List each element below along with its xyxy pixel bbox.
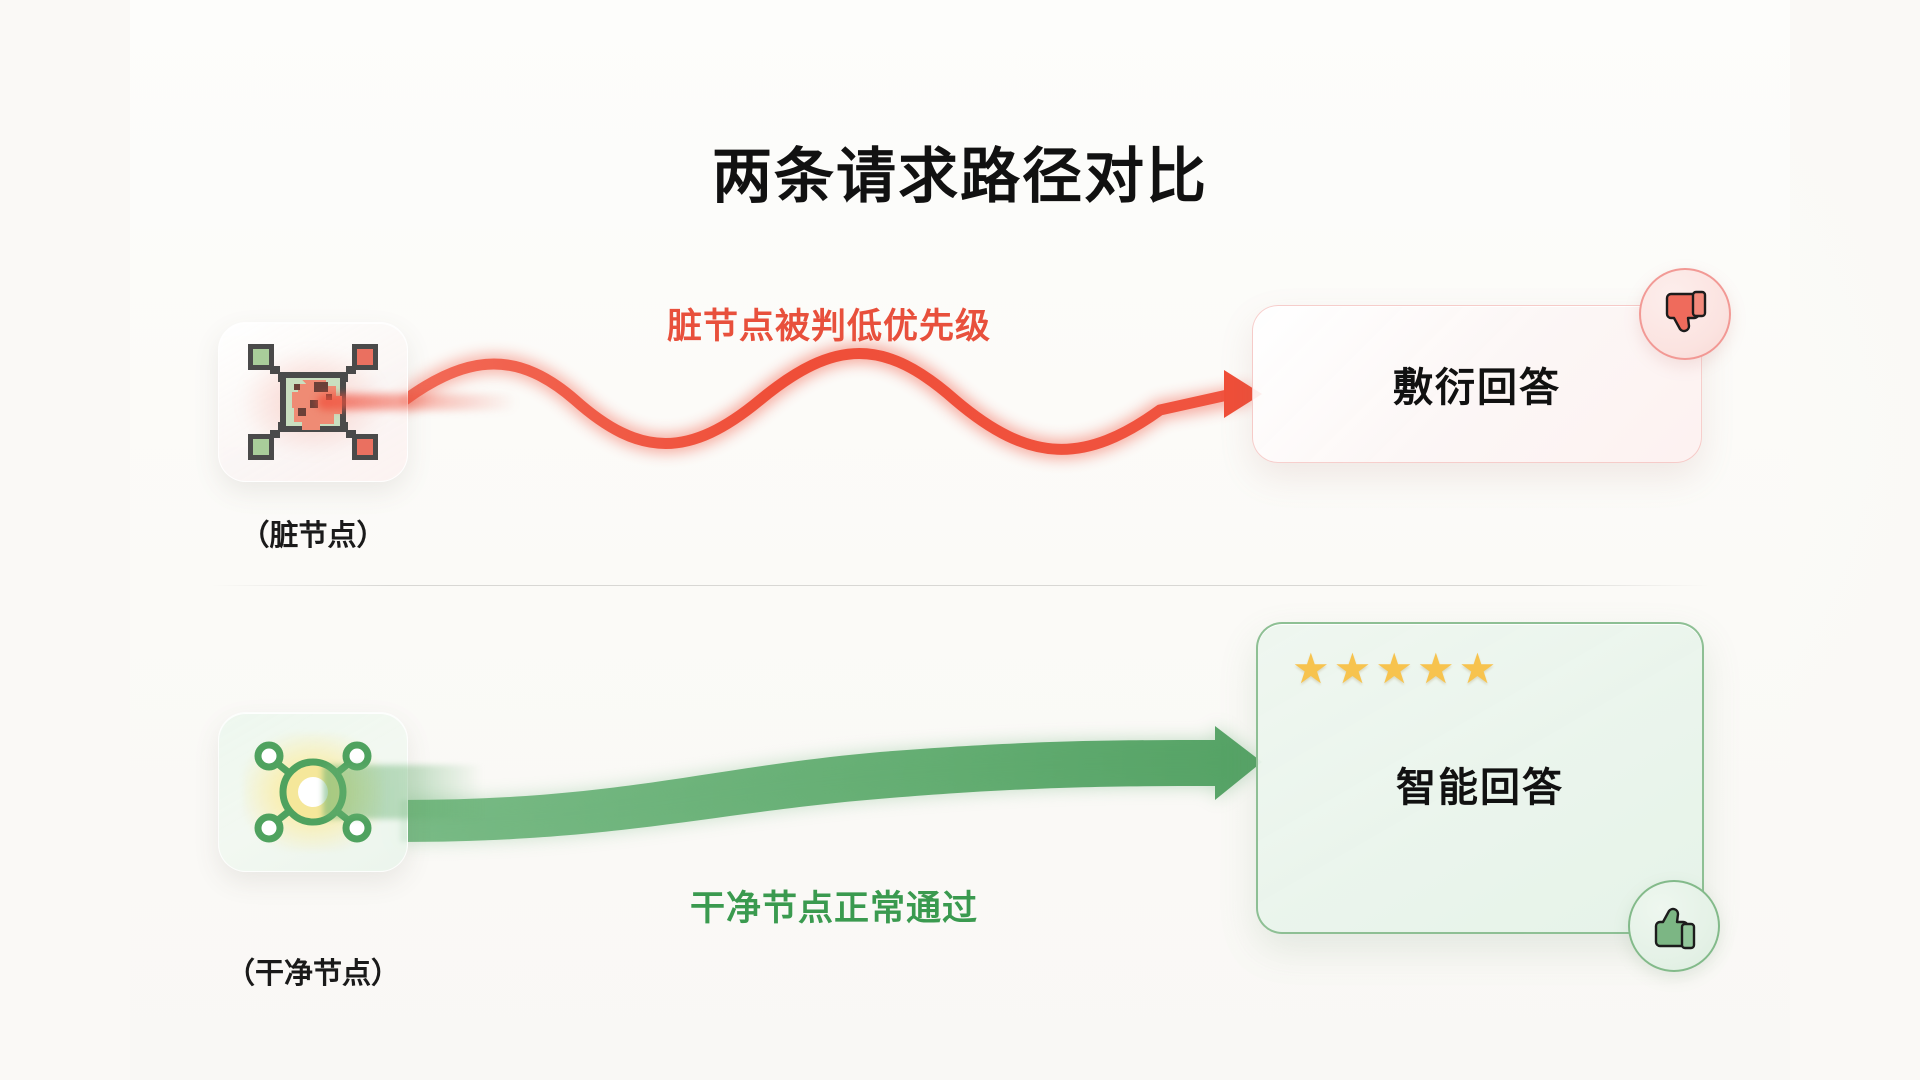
diagram-canvas: 两条请求路径对比 (0, 0, 1920, 1080)
clean-path-label: 干净节点正常通过 (690, 880, 978, 931)
thumbs-down-badge[interactable] (1639, 268, 1731, 360)
clean-answer-card[interactable]: ★★★★★ 智能回答 (1256, 622, 1704, 934)
star-icon: ★ (1334, 648, 1372, 690)
star-icon: ★ (1375, 648, 1413, 690)
thumbs-up-badge[interactable] (1628, 880, 1720, 972)
row-divider (210, 585, 1710, 586)
star-icon: ★ (1292, 648, 1330, 690)
dirty-path-label: 脏节点被判低优先级 (667, 298, 991, 349)
star-icon: ★ (1459, 648, 1497, 690)
dirty-answer-text: 敷衍回答 (1253, 355, 1701, 413)
rating-stars: ★★★★★ (1292, 648, 1496, 690)
dirty-network-node-icon (218, 322, 408, 482)
page-title: 两条请求路径对比 (0, 128, 1920, 215)
thumbs-down-icon (1659, 288, 1711, 340)
clean-node-beam (323, 765, 483, 819)
clean-node-tile[interactable] (218, 712, 408, 872)
dirty-node-caption: （脏节点） (183, 512, 443, 554)
star-icon: ★ (1417, 648, 1455, 690)
thumbs-up-icon (1648, 900, 1700, 952)
dirty-answer-card[interactable]: 敷衍回答 (1252, 305, 1702, 463)
clean-node-caption: （干净节点） (183, 950, 443, 992)
dirty-node-tile[interactable] (218, 322, 408, 482)
clean-answer-text: 智能回答 (1258, 755, 1702, 813)
